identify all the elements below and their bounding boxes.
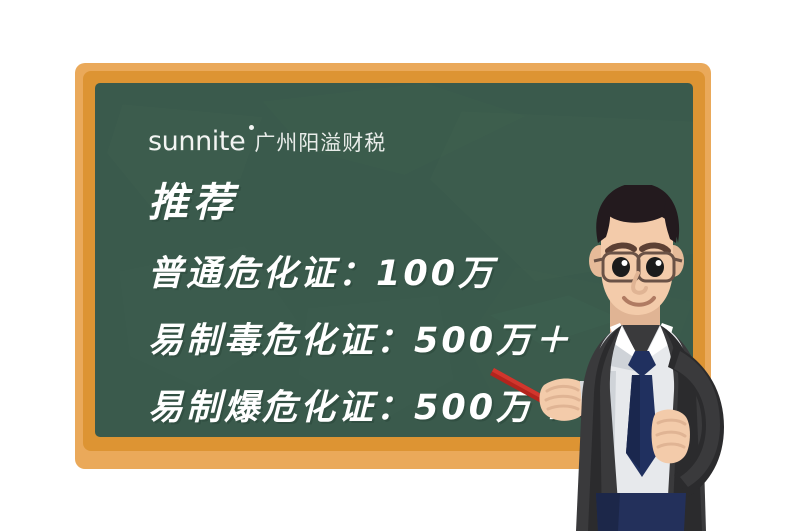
brand-lockup: sunnite 广州阳溢财税 bbox=[148, 128, 386, 155]
teacher-trousers-shadow bbox=[596, 493, 620, 531]
teacher-eye-left bbox=[612, 257, 630, 277]
teacher-illustration bbox=[470, 185, 800, 531]
logo-wordmark: sunnite bbox=[148, 126, 245, 157]
teacher-hip-hand bbox=[652, 410, 690, 464]
promo-graphic: sunnite 广州阳溢财税 推荐 普通危化证：100万 易制毒危化证：500万… bbox=[0, 0, 800, 531]
sunnite-logo: sunnite bbox=[148, 128, 245, 155]
company-name: 广州阳溢财税 bbox=[254, 133, 386, 155]
logo-dot-icon bbox=[249, 125, 254, 130]
teacher-eye-right bbox=[646, 257, 664, 277]
